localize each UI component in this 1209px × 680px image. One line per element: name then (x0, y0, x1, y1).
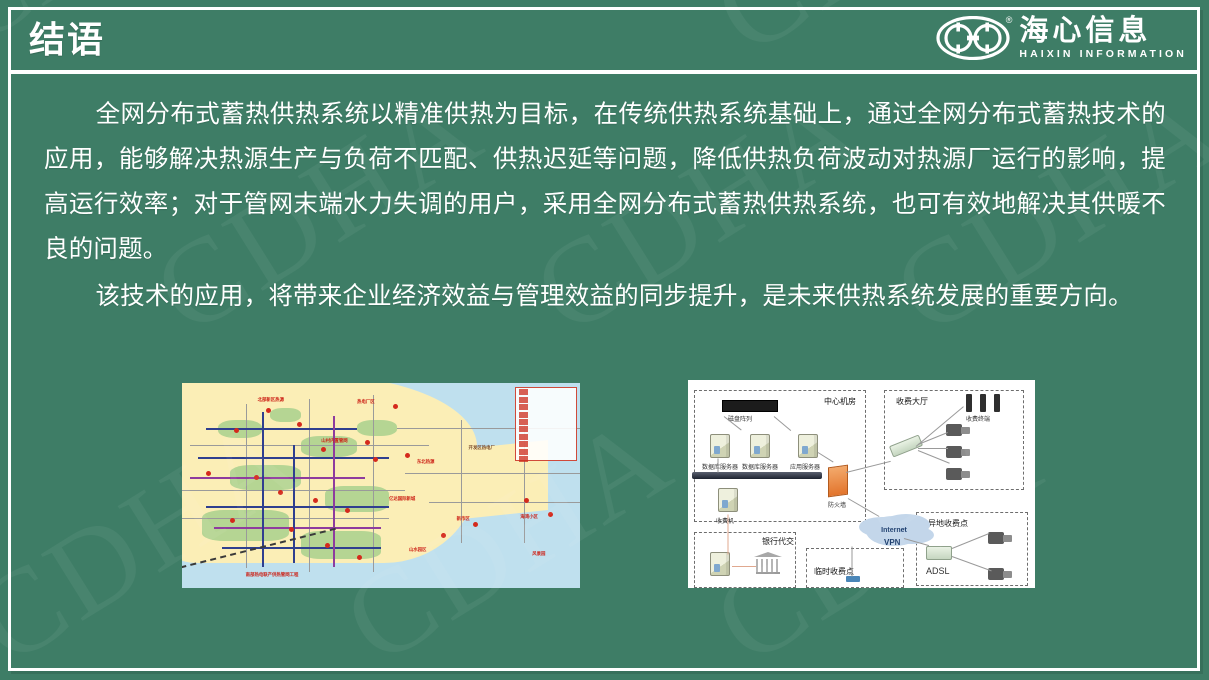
map-legend-swatch (519, 434, 573, 440)
map-road (405, 473, 580, 474)
haixin-emblem-icon: ® (936, 16, 1010, 60)
map-legend-swatch (519, 441, 573, 447)
map-road (373, 395, 374, 571)
workstation-icon (988, 532, 1004, 544)
database-server-icon (710, 434, 730, 458)
database-server-icon (750, 434, 770, 458)
logo-chinese-name: 海心信息 (1019, 16, 1187, 46)
logo-english-name: HAIXIN INFORMATION (1019, 48, 1187, 61)
map-legend-swatch (519, 426, 573, 432)
workstation-icon (946, 424, 962, 436)
map-legend-swatch (519, 389, 573, 395)
disk-array-icon (722, 400, 778, 412)
paragraph: 全网分布式蓄热供热系统以精准供热为目标，在传统供热系统基础上，通过全网分布式蓄热… (44, 92, 1166, 272)
map-green-area (270, 408, 302, 422)
workstation-icon (946, 468, 962, 480)
bank-terminal-icon (710, 552, 730, 576)
map-station-dot (234, 428, 239, 433)
terminal-tower-icon (980, 394, 986, 412)
terminal-tower-icon (966, 394, 972, 412)
map-site-label: 北部新区热源 (258, 397, 284, 403)
node-label-firewall: 防火墙 (828, 500, 846, 509)
link-line (852, 547, 853, 577)
map-road (429, 502, 580, 503)
zone-label-charging-hall: 收费大厅 (896, 396, 928, 407)
map-station-dot (373, 457, 378, 462)
zone-label-center-server-room: 中心机房 (824, 396, 856, 407)
node-label-charging-terminal: 收费终端 (966, 414, 990, 423)
map-green-area (357, 420, 397, 436)
map-legend-swatch (519, 449, 573, 455)
map-pipeline (262, 412, 264, 568)
map-site-label: 风景园 (532, 551, 545, 557)
charging-machine-icon (718, 488, 738, 512)
node-label-vpn: VPN (884, 538, 900, 547)
firewall-icon (828, 465, 848, 498)
node-label-internet: Internet (866, 527, 922, 534)
node-label-db-server-2: 数据库服务器 (742, 462, 778, 471)
node-label-app-server: 应用服务器 (790, 462, 820, 471)
map-site-label: 南部热电联产供热管网工程 (246, 572, 299, 578)
workstation-icon (946, 446, 962, 458)
title-divider-line (11, 70, 1197, 74)
map-station-dot (254, 475, 259, 480)
figure-charging-network-topology[interactable]: 中心机房 收费大厅 异地收费点 临时收费点 银行代交 磁盘阵列 数据库服务器 数… (688, 380, 1035, 588)
node-label-adsl: ADSL (926, 566, 950, 576)
link-line (918, 448, 948, 449)
logo-text-block: 海心信息 HAIXIN INFORMATION (1019, 16, 1187, 61)
map-road (461, 420, 462, 543)
map-station-dot (473, 522, 478, 527)
registered-trademark-icon: ® (1006, 16, 1013, 25)
map-site-label: 热电厂区 (357, 399, 375, 405)
brand-logo: ® 海心信息 HAIXIN INFORMATION (936, 12, 1187, 64)
slide-root: CDHA CDHA CDHA CDHA CDHA CDHA CDHA CDHA … (0, 0, 1209, 680)
map-site-label: 新市区 (457, 516, 470, 522)
map-site-label: 海湾小区 (520, 514, 538, 520)
map-station-dot (548, 512, 553, 517)
adsl-modem-icon (926, 546, 952, 560)
node-label-charging-machine: 收费机 (716, 516, 734, 525)
map-pipeline (214, 527, 381, 529)
map-station-dot (393, 404, 398, 409)
link-line (732, 566, 756, 567)
map-canvas: 北部新区热源 山村内置管网 东北热源 亿达国际新城 新市区 海湾小区 山水园区 … (182, 383, 580, 588)
diagram-canvas: 中心机房 收费大厅 异地收费点 临时收费点 银行代交 磁盘阵列 数据库服务器 数… (688, 380, 1035, 588)
map-station-dot (405, 453, 410, 458)
paragraph: 该技术的应用，将带来企业经济效益与管理效益的同步提升，是未来供热系统发展的重要方… (44, 274, 1166, 319)
map-road (182, 518, 389, 519)
map-site-label: 山村内置管网 (321, 438, 347, 444)
map-site-label: 山水园区 (409, 547, 427, 553)
portable-terminal-icon (846, 576, 860, 582)
map-legend-swatch (519, 419, 573, 425)
map-pipeline (190, 477, 365, 479)
map-station-dot (266, 408, 271, 413)
link-line (728, 515, 729, 555)
map-legend (515, 387, 577, 461)
map-site-label: 东北热源 (417, 459, 435, 465)
map-legend-swatch (519, 412, 573, 418)
zone-label-remote-charging-point: 异地收费点 (928, 518, 968, 529)
core-switch-icon (692, 472, 822, 479)
map-site-label: 开发区热电厂 (469, 445, 495, 451)
map-site-label: 亿达国际新城 (389, 496, 415, 502)
map-pipeline (206, 506, 389, 508)
node-label-db-server-1: 数据库服务器 (702, 462, 738, 471)
terminal-tower-icon (994, 394, 1000, 412)
figure-pipeline-network-map[interactable]: 北部新区热源 山村内置管网 东北热源 亿达国际新城 新市区 海湾小区 山水园区 … (182, 383, 580, 588)
page-title: 结语 (29, 22, 105, 58)
map-station-dot (321, 447, 326, 452)
map-legend-swatch (519, 456, 573, 462)
link-line (718, 459, 719, 473)
map-station-dot (206, 471, 211, 476)
zone-label-bank-agency: 银行代交 (762, 536, 794, 547)
map-legend-swatch (519, 404, 573, 410)
body-text-area: 全网分布式蓄热供热系统以精准供热为目标，在传统供热系统基础上，通过全网分布式蓄热… (44, 92, 1166, 319)
application-server-icon (798, 434, 818, 458)
map-station-dot (278, 490, 283, 495)
map-station-dot (441, 533, 446, 538)
map-legend-swatch (519, 397, 573, 403)
bank-building-icon (756, 556, 780, 574)
